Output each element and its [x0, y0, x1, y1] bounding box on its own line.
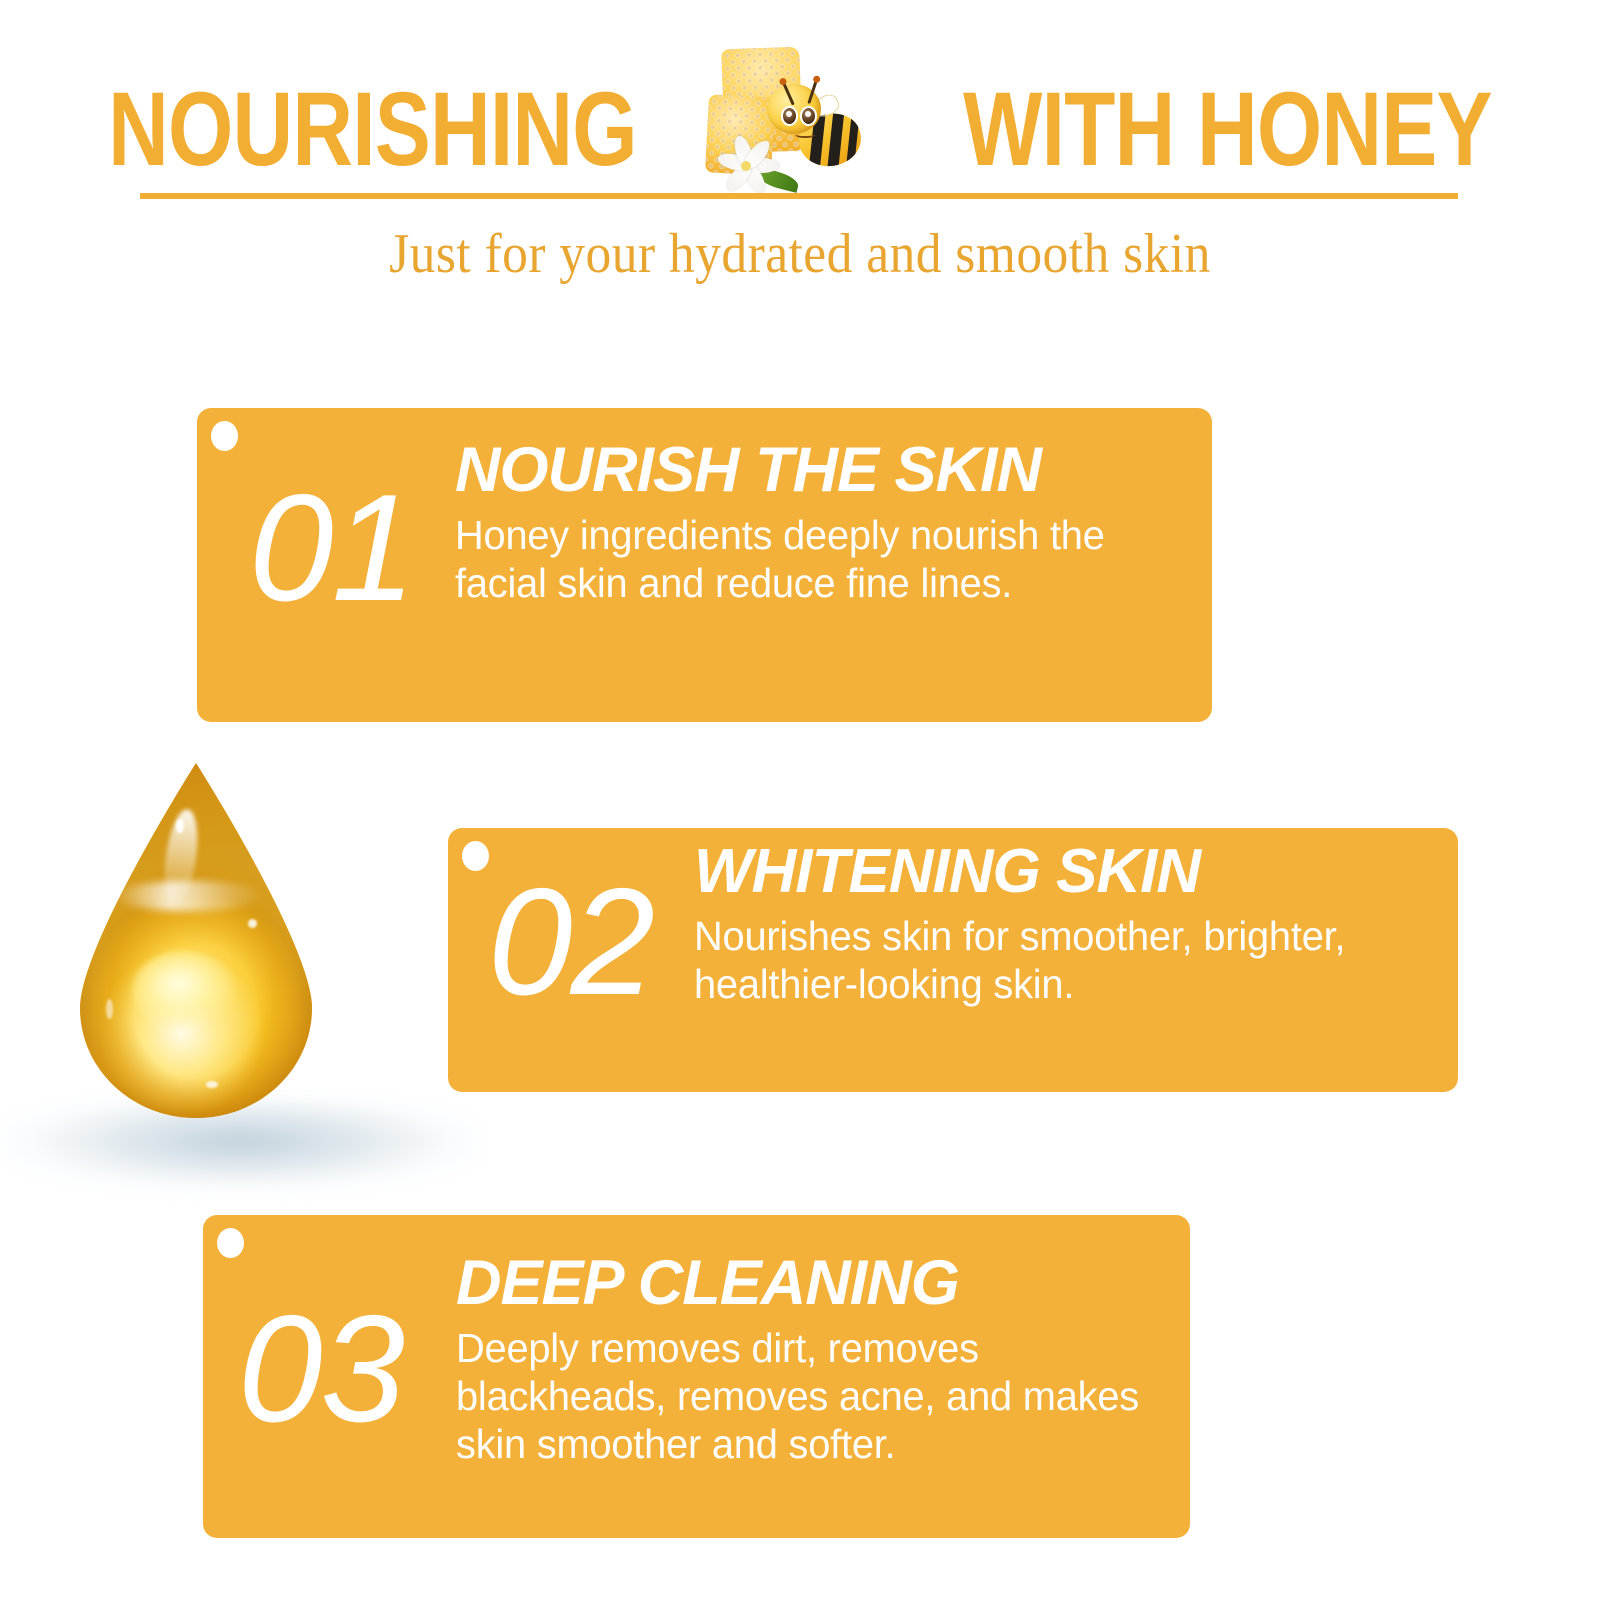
- card-body-text: Honey ingredients deeply nourish the fac…: [455, 512, 1173, 608]
- bee-smile: [795, 128, 815, 138]
- droplet-sparkle: [176, 819, 184, 833]
- honey-droplet-icon: [80, 763, 312, 1118]
- card-heading: NOURISH THE SKIN: [455, 438, 1195, 502]
- tag-hole-icon: [462, 841, 489, 871]
- header: NOURISHING: [0, 0, 1600, 310]
- bee-antenna: [807, 80, 817, 104]
- jasmine-flower-icon: [717, 136, 793, 198]
- card-content: NOURISH THE SKIN Honey ingredients deepl…: [455, 438, 1195, 608]
- card-content: DEEP CLEANING Deeply removes dirt, remov…: [456, 1251, 1186, 1469]
- tag-hole-icon: [211, 421, 238, 451]
- feature-card-03[interactable]: 03 DEEP CLEANING Deeply removes dirt, re…: [203, 1215, 1190, 1538]
- page-subtitle: Just for your hydrated and smooth skin: [64, 222, 1536, 286]
- honeycomb-bee-decoration: [705, 44, 895, 214]
- card-content: WHITENING SKIN Nourishes skin for smooth…: [694, 840, 1439, 1009]
- droplet-sparkle: [248, 919, 257, 928]
- card-number: 01: [249, 472, 414, 624]
- droplet-sparkle: [106, 999, 113, 1019]
- page-title: NOURISHING: [140, 72, 1460, 187]
- title-divider: [140, 193, 1458, 199]
- card-heading: WHITENING SKIN: [694, 840, 1439, 903]
- card-body-text: Nourishes skin for smoother, brighter, h…: [694, 913, 1417, 1009]
- bee-stripe: [826, 110, 845, 170]
- card-number: 03: [238, 1293, 403, 1445]
- droplet-rim: [80, 763, 312, 1118]
- bee-head: [767, 84, 821, 134]
- card-heading: DEEP CLEANING: [456, 1251, 1186, 1315]
- honey-droplet-illustration: [60, 755, 440, 1185]
- card-body-text: Deeply removes dirt, removes blackheads,…: [456, 1325, 1164, 1469]
- feature-card-01[interactable]: 01 NOURISH THE SKIN Honey ingredients de…: [197, 408, 1212, 722]
- tag-hole-icon: [217, 1228, 244, 1258]
- droplet-sparkle: [206, 1081, 218, 1088]
- bee-eye: [800, 106, 817, 126]
- bee-antenna: [782, 83, 794, 106]
- flower-center: [741, 161, 751, 171]
- title-word-with-honey: WITH HONEY: [963, 77, 1492, 182]
- feature-card-02[interactable]: 02 WHITENING SKIN Nourishes skin for smo…: [448, 828, 1458, 1092]
- bee-stripe: [845, 110, 861, 170]
- bee-eye: [781, 106, 798, 126]
- card-number: 02: [488, 866, 653, 1018]
- droplet-highlight-core: [132, 951, 236, 1029]
- title-word-nourishing: NOURISHING: [108, 77, 637, 182]
